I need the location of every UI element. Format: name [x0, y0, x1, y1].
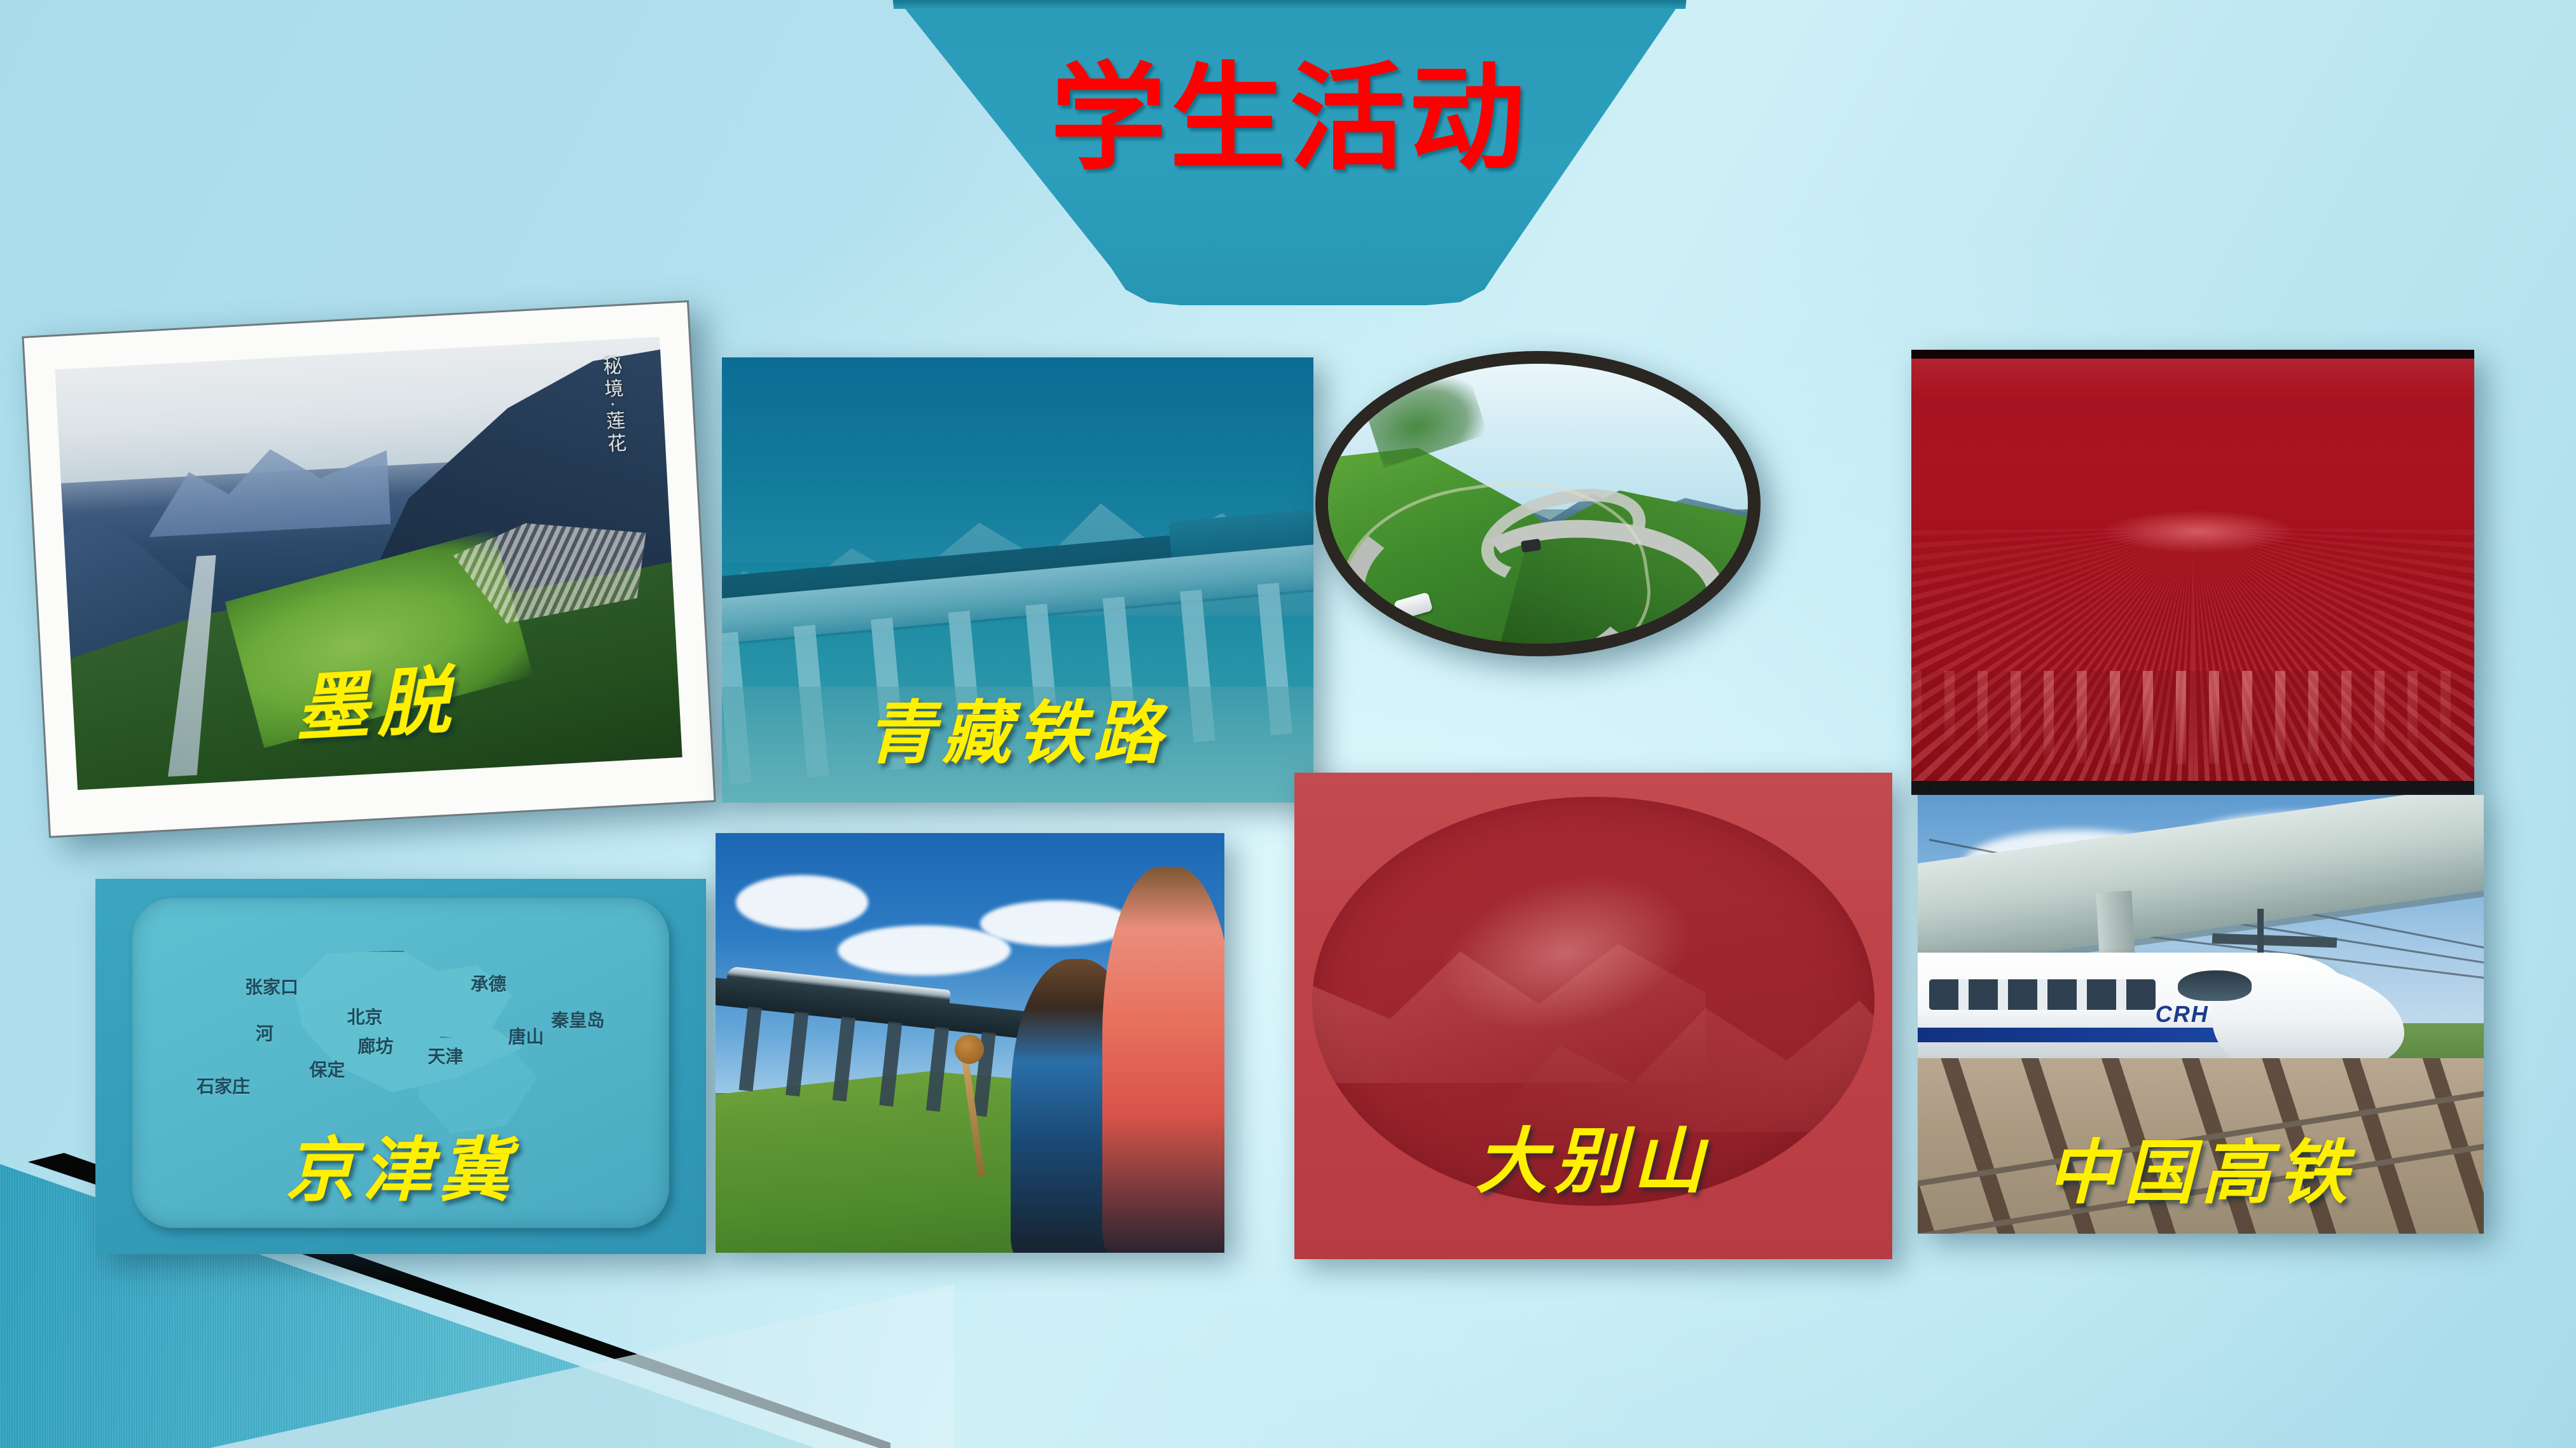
photo-cloud: [838, 925, 1011, 976]
card-mountain-road[interactable]: [1315, 351, 1761, 656]
map-label: 唐山: [508, 1023, 544, 1049]
photo-train-windows: [1929, 979, 2156, 1010]
card-china-high-speed-rail[interactable]: CRH 中国高铁: [1918, 795, 2484, 1234]
polaroid-frame: 秘境·莲花: [22, 300, 716, 838]
page-title: 学生活动: [887, 19, 1692, 197]
slide-canvas: 学生活动 秘境·莲花 墨脱: [0, 0, 2576, 1448]
card-medog[interactable]: 秘境·莲花 墨脱: [22, 300, 716, 838]
card-tibet-train-watchers[interactable]: [716, 833, 1224, 1253]
card-dabie-mountain[interactable]: 大别山: [1294, 773, 1892, 1259]
title-banner-top-edge: [887, 0, 1692, 9]
map-label: 保定: [309, 1056, 345, 1082]
photo-blue-tint-overlay: [722, 357, 1313, 803]
photo-cloud: [980, 900, 1133, 947]
map-plate: 张家口承德北京秦皇岛唐山河廊坊天津保定石家庄: [95, 879, 706, 1254]
map-label: 张家口: [245, 974, 298, 999]
photo-qinghai-tibet-railway: [722, 357, 1313, 803]
photo-ellipse-mask: [1312, 797, 1874, 1206]
map-label: 天津: [427, 1043, 463, 1068]
photo-train-noses: [1911, 671, 2474, 764]
card-jing-jin-ji[interactable]: 张家口承德北京秦皇岛唐山河廊坊天津保定石家庄 京津冀: [95, 879, 706, 1254]
map-label: 石家庄: [197, 1073, 250, 1098]
photo-medog-valley: 秘境·莲花: [55, 337, 682, 790]
map-label: 北京: [347, 1003, 383, 1029]
photo-dabie-mountain: [1294, 773, 1892, 1259]
map-label: 承德: [471, 970, 506, 996]
oval-photo-frame: [1315, 351, 1761, 656]
photo-depot-upper-haze: [1911, 359, 2474, 397]
photo-tibetan-woman-back: [1102, 867, 1224, 1253]
map-label: 廊坊: [357, 1033, 393, 1058]
photo-cloud: [736, 875, 868, 930]
crh-logo: CRH: [2156, 1001, 2209, 1028]
photo-track-ballast: [1918, 1058, 2484, 1234]
photo-tibet-train-watchers: [716, 833, 1224, 1253]
card-hsr-depot[interactable]: [1911, 350, 2474, 795]
card-qinghai-tibet-railway[interactable]: 青藏铁路: [722, 357, 1313, 803]
map-label: 河: [256, 1020, 274, 1045]
photo-crh-train: CRH: [1918, 795, 2484, 1234]
map-beijing-tianjin-hebei: 张家口承德北京秦皇岛唐山河廊坊天津保定石家庄: [132, 898, 670, 1228]
photo-prayer-wheel: [955, 1035, 984, 1064]
photo-hsr-depot: [1911, 350, 2474, 795]
map-label: 秦皇岛: [551, 1007, 605, 1032]
photo-cab-window: [2178, 970, 2252, 1001]
